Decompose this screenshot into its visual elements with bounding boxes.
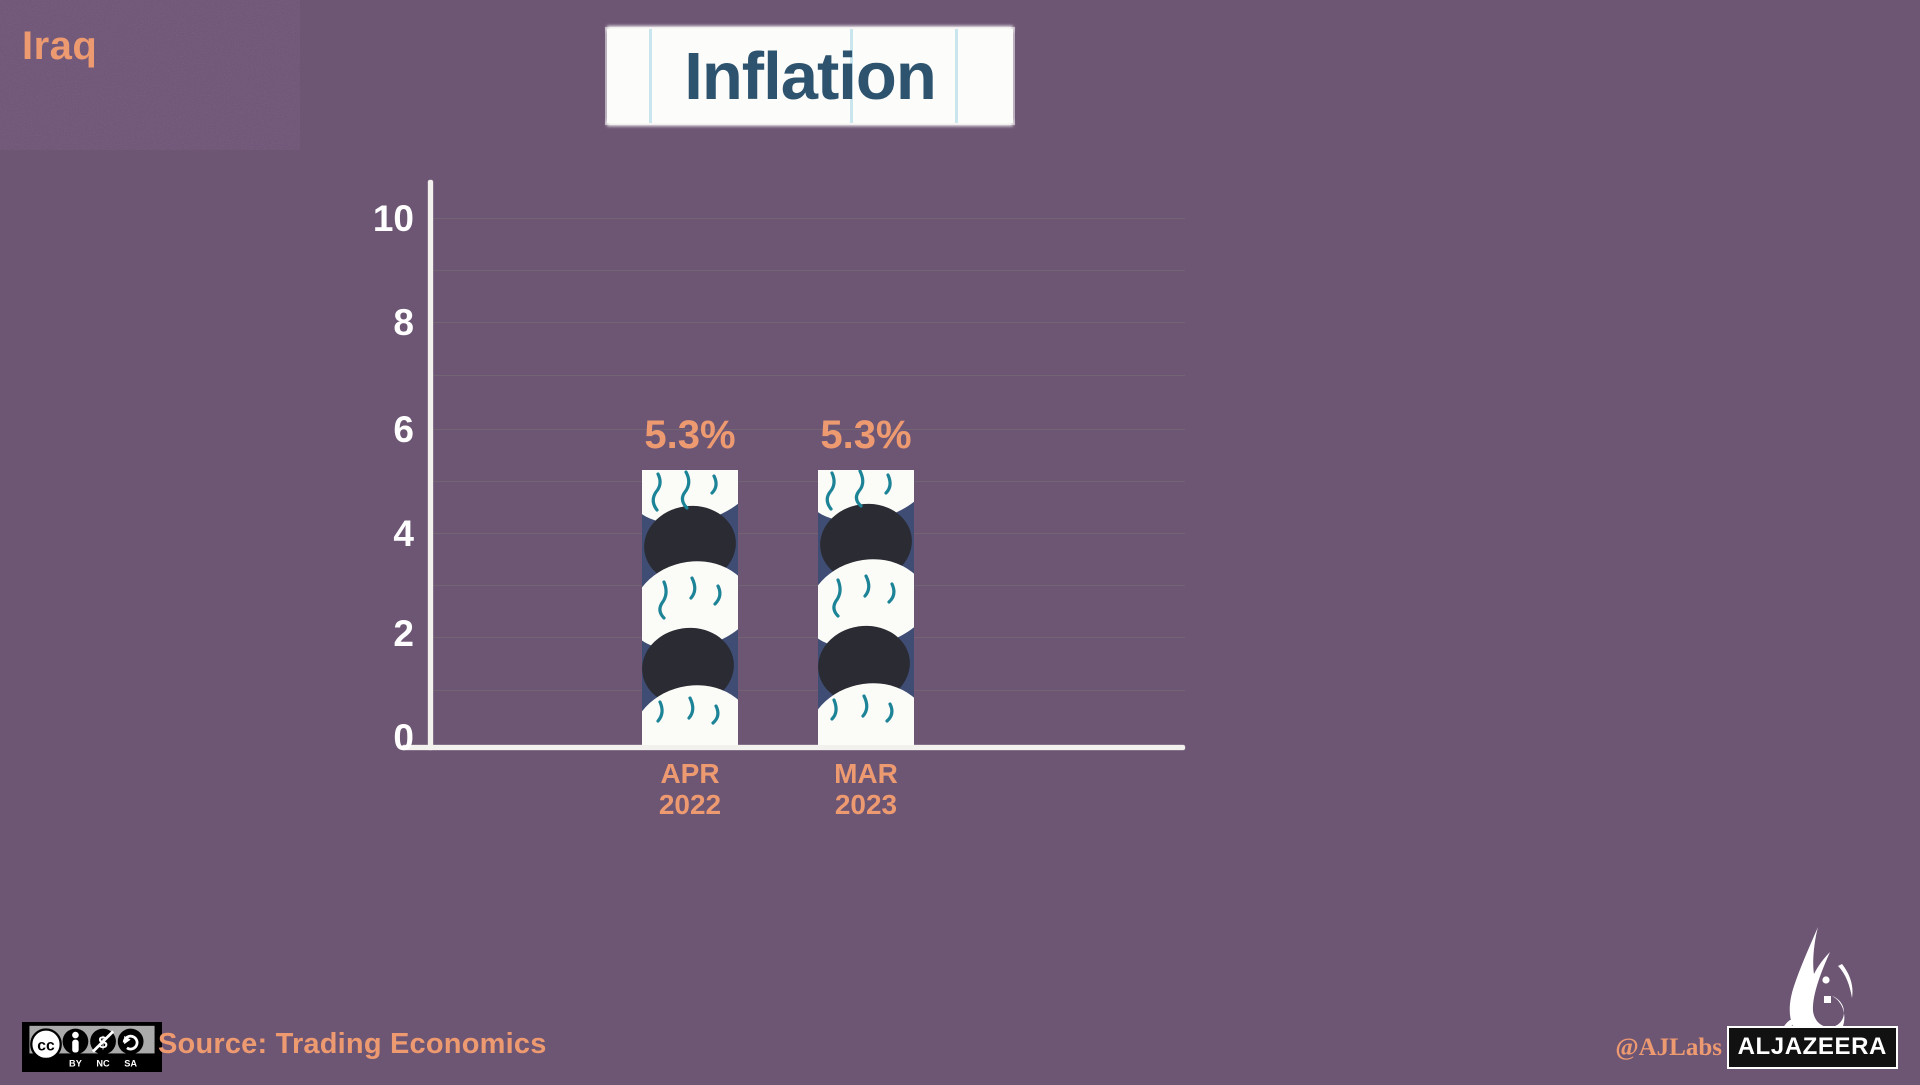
bar-value-mar-2023: 5.3% xyxy=(766,413,966,458)
page-title: Inflation xyxy=(607,29,1013,123)
country-label: Iraq xyxy=(22,24,97,69)
gridline xyxy=(430,585,1185,586)
y-tick-label-8: 8 xyxy=(352,302,414,344)
y-tick-label-2: 2 xyxy=(352,613,414,655)
bar-texture-lines xyxy=(642,470,738,745)
y-tick-label-10: 10 xyxy=(352,198,414,240)
gridline xyxy=(430,218,1185,219)
x-axis-line xyxy=(402,745,1185,750)
cc-sa-label: SA xyxy=(124,1058,137,1068)
bar-texture-lines xyxy=(818,470,914,745)
gridline xyxy=(430,690,1185,691)
gridline xyxy=(430,322,1185,323)
source-attribution: Source: Trading Economics xyxy=(158,1028,547,1061)
cc-by-label: BY xyxy=(69,1058,82,1068)
bar-mar-2023[interactable] xyxy=(818,470,914,745)
al-jazeera-wordmark: ALJAZEERA xyxy=(1727,1026,1898,1069)
title-card: Inflation xyxy=(607,29,1013,123)
gridline xyxy=(430,375,1185,376)
cc-nc-label: NC xyxy=(96,1058,110,1068)
y-tick-label-0: 0 xyxy=(352,717,414,759)
svg-text:cc: cc xyxy=(37,1038,55,1055)
creative-commons-badge[interactable]: cc BY $ NC SA xyxy=(22,1022,162,1072)
gridline xyxy=(430,533,1185,534)
bar-category-year-2023: 2023 xyxy=(756,789,976,820)
aj-labs-handle: @AJLabs xyxy=(1615,1034,1722,1062)
gridline xyxy=(430,270,1185,271)
chart-plot-area: 10 8 6 4 2 0 5.3% APR 2022 xyxy=(0,0,1920,1085)
bar-category-month-mar: MAR xyxy=(756,758,976,789)
y-tick-label-4: 4 xyxy=(352,513,414,555)
gridline xyxy=(430,637,1185,638)
y-axis-line xyxy=(428,180,433,750)
bar-value-apr-2022: 5.3% xyxy=(590,413,790,458)
bar-apr-2022[interactable] xyxy=(642,470,738,745)
cc-license-icon: cc BY $ NC SA xyxy=(24,1024,160,1070)
bar-category-mar-2023: MAR 2023 xyxy=(756,758,976,821)
y-tick-label-6: 6 xyxy=(352,409,414,451)
gridline xyxy=(430,481,1185,482)
